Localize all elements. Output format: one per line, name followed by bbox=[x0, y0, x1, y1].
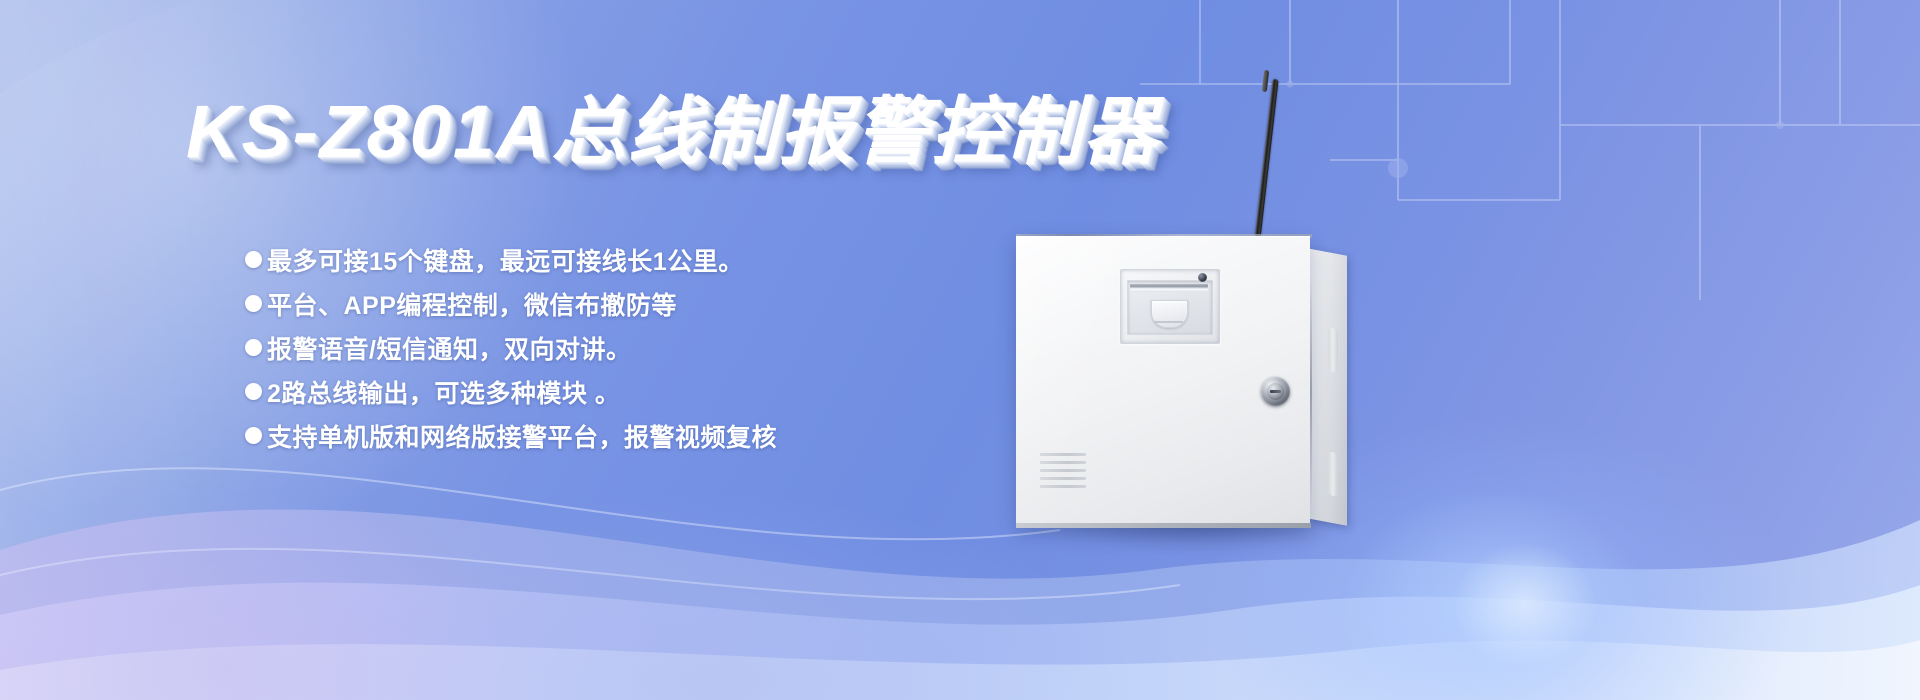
printer-tear-bar bbox=[1130, 289, 1208, 292]
bullet-dot-icon bbox=[245, 295, 262, 312]
list-item: 支持单机版和网络版接警平台，报警视频复核 bbox=[245, 414, 777, 457]
bullet-dot-icon bbox=[245, 251, 262, 268]
feature-text: 2路总线输出，可选多种模块 。 bbox=[267, 374, 620, 410]
vent-slat bbox=[1040, 485, 1086, 488]
printer-cover-knob bbox=[1151, 300, 1188, 328]
product-image-alarm-control-panel bbox=[1008, 60, 1488, 620]
feature-list: 最多可接15个键盘，最远可接线长1公里。 平台、APP编程控制，微信布撤防等 报… bbox=[245, 238, 777, 458]
key-lock-slot bbox=[1270, 390, 1281, 393]
list-item: 2路总线输出，可选多种模块 。 bbox=[245, 370, 777, 413]
feature-text: 报警语音/短信通知，双向对讲。 bbox=[267, 330, 631, 366]
bullet-dot-icon bbox=[245, 383, 262, 400]
vent-slat bbox=[1040, 461, 1086, 464]
feature-text: 平台、APP编程控制，微信布撤防等 bbox=[267, 286, 677, 322]
vent-slat bbox=[1040, 469, 1086, 472]
antenna-tip-icon bbox=[1262, 70, 1269, 92]
list-item: 最多可接15个键盘，最远可接线长1公里。 bbox=[245, 238, 777, 281]
vent-slat bbox=[1040, 477, 1086, 480]
bullet-dot-icon bbox=[245, 427, 262, 444]
enclosure-side-face bbox=[1307, 248, 1347, 525]
bullet-dot-icon bbox=[245, 339, 262, 356]
ventilation-slots bbox=[1040, 453, 1086, 489]
enclosure-hinge-bottom bbox=[1328, 451, 1338, 497]
product-banner: KS-Z801A总线制报警控制器 最多可接15个键盘，最远可接线长1公里。 平台… bbox=[0, 0, 1920, 700]
printer-paper-slot bbox=[1130, 284, 1208, 288]
vent-slat bbox=[1040, 453, 1086, 456]
feature-text: 最多可接15个键盘，最远可接线长1公里。 bbox=[267, 242, 744, 278]
list-item: 报警语音/短信通知，双向对讲。 bbox=[245, 326, 777, 369]
feature-text: 支持单机版和网络版接警平台，报警视频复核 bbox=[267, 418, 777, 454]
status-led-icon bbox=[1198, 273, 1207, 282]
printer-knob-line bbox=[1154, 321, 1183, 323]
list-item: 平台、APP编程控制，微信布撤防等 bbox=[245, 282, 777, 325]
enclosure-hinge-top bbox=[1328, 327, 1338, 373]
enclosure-bottom-edge bbox=[1016, 523, 1311, 528]
